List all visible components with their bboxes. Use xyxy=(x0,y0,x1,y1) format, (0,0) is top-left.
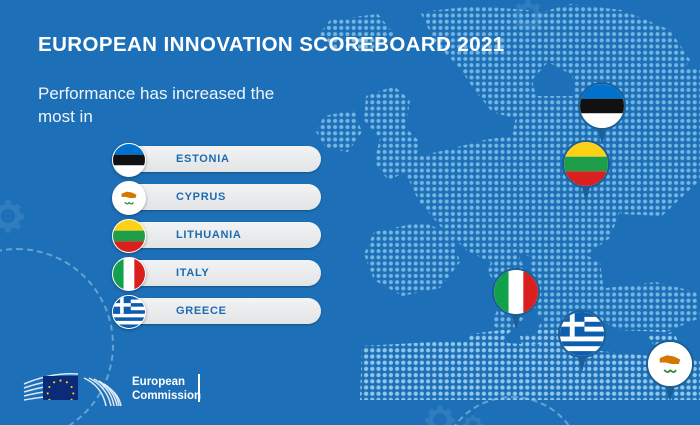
country-label: ESTONIA xyxy=(176,153,230,165)
estonia-flag-icon xyxy=(578,82,626,130)
gear-icon xyxy=(0,192,32,240)
dotted-europe-map xyxy=(270,0,700,425)
logo-divider xyxy=(198,374,200,402)
country-pill-greece[interactable]: GREECE xyxy=(118,298,321,324)
infographic-canvas: EUROPEAN INNOVATION SCOREBOARD 2021 Perf… xyxy=(0,0,700,425)
list-item[interactable]: ESTONIA xyxy=(112,146,327,172)
page-title: EUROPEAN INNOVATION SCOREBOARD 2021 xyxy=(38,33,505,57)
list-item[interactable]: GREECE xyxy=(112,298,327,324)
map-pin-cyprus[interactable] xyxy=(646,340,694,402)
list-item[interactable]: ITALY xyxy=(112,260,327,286)
country-label: ITALY xyxy=(176,267,209,279)
country-ranking-list: ESTONIA CYPRUS LITHUANIA ITALY xyxy=(112,146,327,336)
country-label: LITHUANIA xyxy=(176,229,242,241)
map-pin-lithuania[interactable] xyxy=(562,140,610,202)
country-pill-estonia[interactable]: ESTONIA xyxy=(118,146,321,172)
logo-wordmark: European Commission xyxy=(132,376,201,403)
estonia-flag-icon xyxy=(112,143,146,177)
italy-flag-icon xyxy=(112,257,146,291)
list-item[interactable]: LITHUANIA xyxy=(112,222,327,248)
country-pill-cyprus[interactable]: CYPRUS xyxy=(118,184,321,210)
country-label: GREECE xyxy=(176,305,227,317)
lithuania-flag-icon xyxy=(112,219,146,253)
european-commission-logo: European Commission xyxy=(22,366,222,412)
eu-flag-icon xyxy=(43,376,78,400)
map-pin-estonia[interactable] xyxy=(578,82,626,144)
lithuania-flag-icon xyxy=(562,140,610,188)
italy-flag-icon xyxy=(492,268,540,316)
cyprus-flag-icon xyxy=(112,181,146,215)
logo-line-1: European xyxy=(132,376,201,390)
greece-flag-icon xyxy=(558,310,606,358)
logo-line-2: Commission xyxy=(132,390,201,404)
cyprus-flag-icon xyxy=(646,340,694,388)
map-pin-italy[interactable] xyxy=(492,268,540,330)
list-item[interactable]: CYPRUS xyxy=(112,184,327,210)
page-subtitle: Performance has increased the most in xyxy=(38,82,308,128)
map-pin-greece[interactable] xyxy=(558,310,606,372)
country-label: CYPRUS xyxy=(176,191,226,203)
country-pill-lithuania[interactable]: LITHUANIA xyxy=(118,222,321,248)
country-pill-italy[interactable]: ITALY xyxy=(118,260,321,286)
greece-flag-icon xyxy=(112,295,146,329)
